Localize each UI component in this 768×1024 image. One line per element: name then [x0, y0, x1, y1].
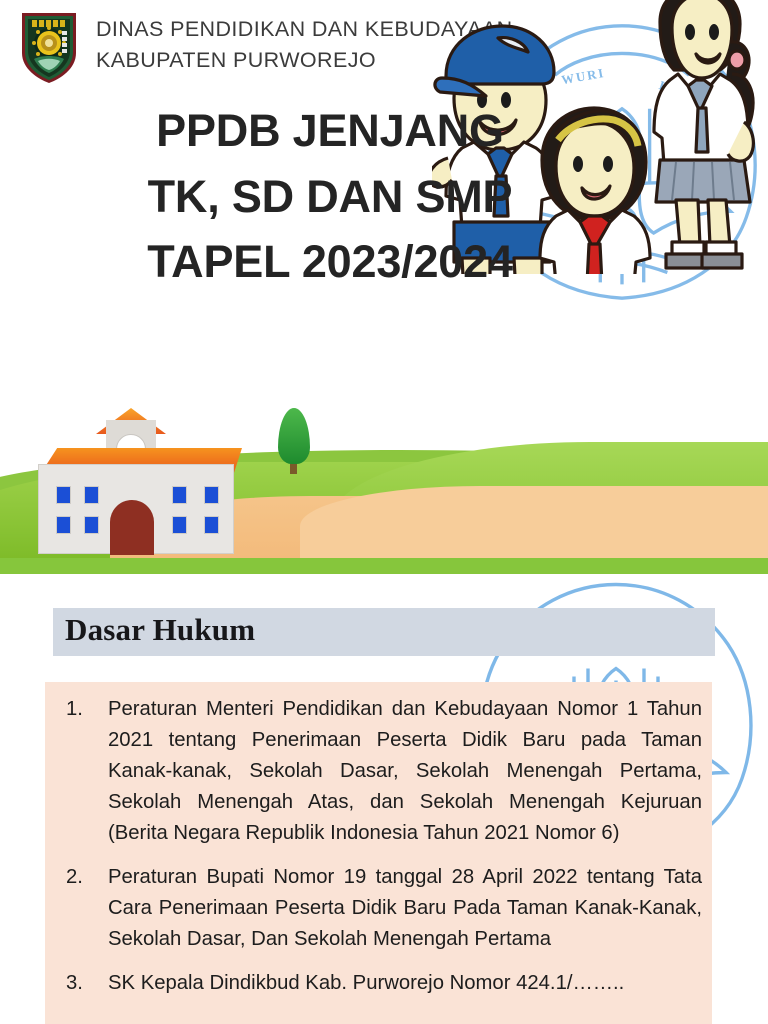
list-item-text: SK Kepala Dindikbud Kab. Purworejo Nomor… [108, 972, 624, 994]
section-heading-box: Dasar Hukum [53, 608, 715, 656]
slide-title: TUT WURI HANDAYANI [0, 0, 768, 574]
list-item: 3. SK Kepala Dindikbud Kab. Purworejo No… [45, 968, 702, 999]
list-item-number: 2. [66, 862, 102, 893]
list-item-text: Peraturan Bupati Nomor 19 tanggal 28 Apr… [108, 866, 702, 950]
school-building-icon [32, 412, 254, 554]
school-door [110, 500, 154, 555]
page-title: PPDB JENJANG TK, SD DAN SMP TAPEL 2023/2… [60, 98, 600, 295]
list-item-number: 3. [66, 968, 102, 999]
legal-basis-list-container: 1. Peraturan Menteri Pendidikan dan Kebu… [45, 682, 712, 1024]
legal-basis-list: 1. Peraturan Menteri Pendidikan dan Kebu… [45, 694, 702, 999]
grass-strip [0, 558, 768, 574]
tree-icon [278, 408, 310, 464]
document-page: TUT WURI HANDAYANI [0, 0, 768, 1024]
purworejo-regency-logo-icon [18, 7, 80, 85]
illustration-scene [0, 300, 768, 574]
list-item-text: Peraturan Menteri Pendidikan dan Kebuday… [108, 698, 702, 844]
section-heading: Dasar Hukum [65, 612, 255, 648]
list-item: 1. Peraturan Menteri Pendidikan dan Kebu… [45, 694, 702, 849]
slide-dasar-hukum: Dasar Hukum 1. Peraturan Menteri Pendidi… [0, 574, 768, 1024]
list-item: 2. Peraturan Bupati Nomor 19 tanggal 28 … [45, 862, 702, 955]
list-item-number: 1. [66, 694, 102, 725]
